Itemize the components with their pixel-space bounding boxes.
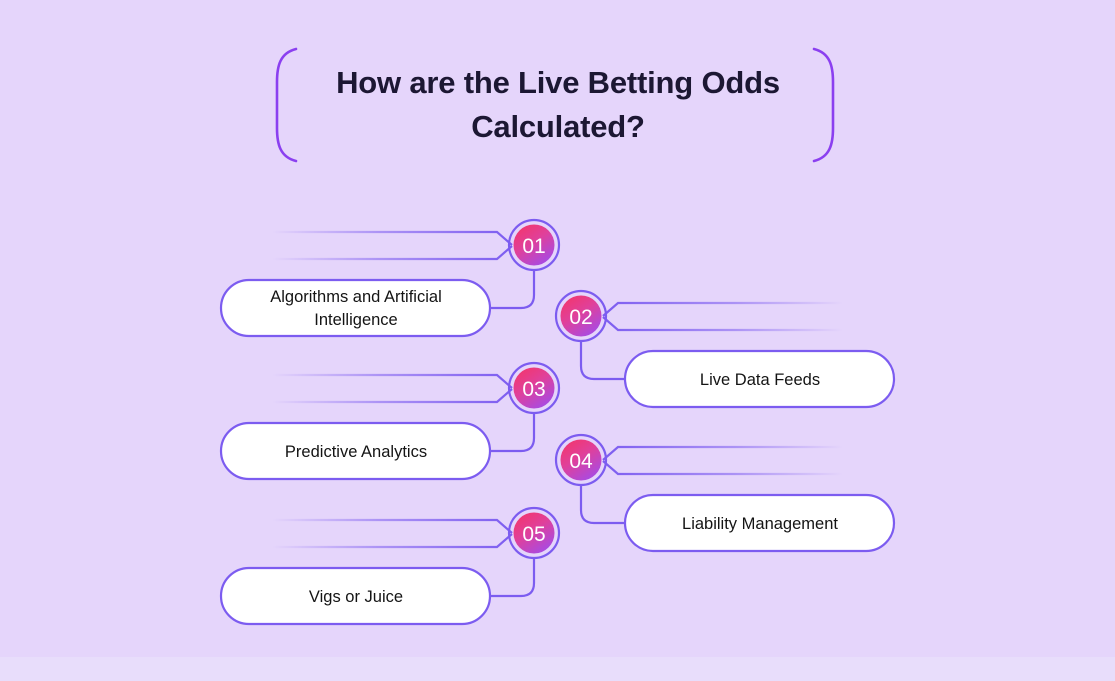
- step-label-05: Vigs or Juice: [309, 588, 403, 606]
- step-item-02[interactable]: Live Data Feeds 02: [556, 291, 894, 407]
- step-item-03[interactable]: Predictive Analytics 03: [221, 363, 559, 479]
- connector-elbow-03: [490, 414, 534, 451]
- connector-line-02-bottom: [603, 317, 843, 330]
- badge-number-03: 03: [522, 378, 545, 401]
- step-item-04[interactable]: Liability Management 04: [556, 435, 894, 551]
- connector-elbow-01: [490, 271, 534, 308]
- connector-elbow-02: [581, 342, 625, 379]
- step-label-02: Live Data Feeds: [700, 371, 820, 389]
- connector-line-04-bottom: [603, 461, 843, 474]
- connector-line-01-top: [272, 232, 512, 245]
- step-label-03: Predictive Analytics: [285, 443, 427, 461]
- connector-elbow-04: [581, 486, 625, 523]
- badge-number-05: 05: [522, 523, 545, 546]
- badge-number-04: 04: [569, 450, 593, 473]
- connector-line-05-bottom: [272, 534, 512, 547]
- connector-line-03-bottom: [272, 389, 512, 402]
- connector-line-02-top: [603, 303, 843, 316]
- connector-line-01-bottom: [272, 246, 512, 259]
- infographic-canvas: How are the Live Betting Odds Calculated…: [0, 0, 1115, 681]
- step-label-01-line2: Intelligence: [314, 311, 397, 329]
- connector-line-04-top: [603, 447, 843, 460]
- connector-line-03-top: [272, 375, 512, 388]
- step-label-04: Liability Management: [682, 515, 838, 533]
- badge-number-01: 01: [522, 235, 545, 258]
- step-label-01-line1: Algorithms and Artificial: [270, 288, 442, 306]
- step-item-01[interactable]: Algorithms and Artificial Intelligence 0…: [221, 220, 559, 336]
- connector-line-05-top: [272, 520, 512, 533]
- badge-number-02: 02: [569, 306, 592, 329]
- steps-diagram: Algorithms and Artificial Intelligence 0…: [0, 0, 1115, 681]
- step-item-05[interactable]: Vigs or Juice 05: [221, 508, 559, 624]
- connector-elbow-05: [490, 559, 534, 596]
